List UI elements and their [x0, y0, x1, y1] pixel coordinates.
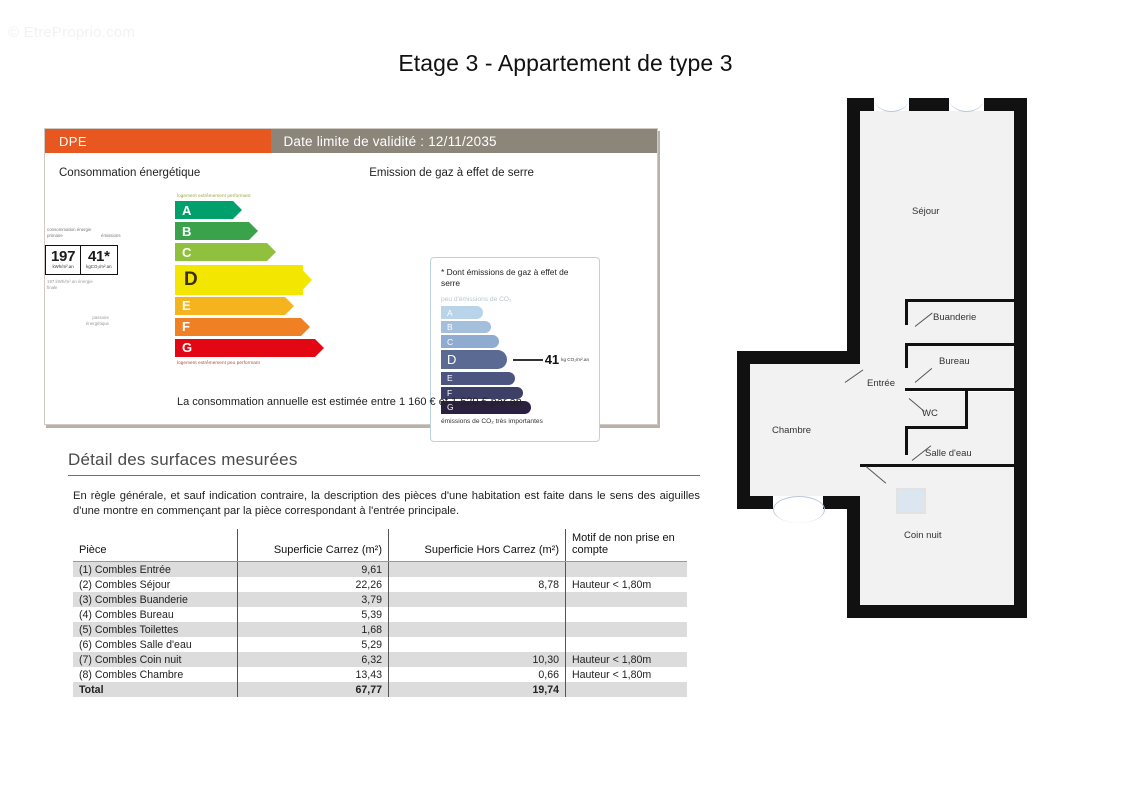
- table-row: (8) Combles Chambre 13,43 0,66 Hauteur <…: [73, 667, 687, 682]
- dpe-section-headings: Consommation énergétique Emission de gaz…: [45, 167, 657, 179]
- cell-carrez: 5,39: [238, 607, 389, 622]
- passoire-note: passoire énergétique: [69, 315, 109, 327]
- cell-hors-carrez: [389, 562, 566, 578]
- room-label-sejour: Séjour: [912, 206, 939, 217]
- ges-row-c: C: [441, 335, 589, 348]
- cell-total-label: Total: [73, 682, 238, 697]
- label-consommation: consommation énergie primaire: [47, 227, 95, 239]
- scale-letter-b: B: [175, 222, 249, 240]
- surfaces-table: Pièce Superficie Carrez (m²) Superficie …: [73, 529, 687, 697]
- cell-piece: (2) Combles Séjour: [73, 577, 238, 592]
- surfaces-heading: Détail des surfaces mesurées: [68, 450, 700, 476]
- cell-piece: (7) Combles Coin nuit: [73, 652, 238, 667]
- cell-motif: [566, 622, 688, 637]
- table-row: (2) Combles Séjour 22,26 8,78 Hauteur < …: [73, 577, 687, 592]
- ges-letter-c: C: [441, 335, 499, 348]
- ges-letter-e: E: [441, 372, 515, 385]
- cell-motif: [566, 562, 688, 578]
- ges-unit: kgCO₂/m².an: [86, 264, 111, 270]
- cell-carrez: 5,29: [238, 637, 389, 652]
- scale-row-f: F: [175, 318, 315, 338]
- table-row: (7) Combles Coin nuit 6,32 10,30 Hauteur…: [73, 652, 687, 667]
- partition-sejour-bottom: [905, 299, 1014, 302]
- table-total-row: Total 67,77 19,74: [73, 682, 687, 697]
- cell-motif: Hauteur < 1,80m: [566, 667, 688, 682]
- room-bureau-fill: [905, 346, 1014, 390]
- column-header-piece: Pièce: [73, 529, 238, 562]
- scale-letter-f: F: [175, 318, 301, 336]
- partition-buanderie-bottom: [905, 343, 1014, 346]
- energy-unit: kWh/m².an: [52, 264, 73, 270]
- dpe-validity-date: Date limite de validité : 12/11/2035: [271, 129, 657, 153]
- window-arc-chambre: [773, 496, 825, 523]
- wall-left-upper: [847, 98, 860, 364]
- energy-value-cell: 197 kWh/m².an: [46, 246, 80, 274]
- energy-value: 197: [51, 250, 75, 264]
- wall-chambre-left: [737, 351, 750, 509]
- skylight-icon: [896, 488, 926, 514]
- ges-letter-d: D: [441, 350, 507, 369]
- scale-row-g: G: [175, 339, 315, 359]
- cell-piece: (6) Combles Salle d'eau: [73, 637, 238, 652]
- dpe-panel: DPE Date limite de validité : 12/11/2035…: [44, 128, 658, 425]
- table-row: (3) Combles Buanderie 3,79: [73, 592, 687, 607]
- column-header-motif: Motif de non prise en compte: [566, 529, 688, 562]
- ges-heading: Emission de gaz à effet de serre: [363, 167, 657, 179]
- scale-caption-top: logement extrêmement performant: [177, 193, 315, 201]
- surfaces-section: Détail des surfaces mesurées En règle gé…: [68, 450, 700, 697]
- cell-hors-carrez: 0,66: [389, 667, 566, 682]
- partition-salledeau-left: [905, 429, 908, 455]
- ges-value: 41: [545, 352, 559, 367]
- wall-right: [1014, 98, 1027, 618]
- column-header-carrez: Superficie Carrez (m²): [238, 529, 389, 562]
- label-emissions: émissions: [101, 233, 121, 239]
- partition-salledeau-bottom: [860, 464, 1014, 467]
- cell-carrez: 22,26: [238, 577, 389, 592]
- ges-value-unit: kg CO₂/m².an: [561, 357, 589, 362]
- surfaces-intro: En règle générale, et sauf indication co…: [73, 489, 700, 519]
- partition-bureau-left: [905, 346, 908, 368]
- ges-value-star: 41*: [88, 250, 110, 264]
- table-row: (1) Combles Entrée 9,61: [73, 562, 687, 578]
- cell-motif: [566, 592, 688, 607]
- cell-piece: (8) Combles Chambre: [73, 667, 238, 682]
- room-label-bureau: Bureau: [939, 356, 970, 367]
- cell-piece: (5) Combles Toilettes: [73, 622, 238, 637]
- table-header-row: Pièce Superficie Carrez (m²) Superficie …: [73, 529, 687, 562]
- room-label-entree: Entrée: [867, 378, 895, 389]
- scale-row-e: E: [175, 297, 315, 317]
- window-arc-sejour-left: [874, 85, 909, 112]
- scale-letter-a: A: [175, 201, 233, 219]
- column-header-hors-carrez: Superficie Hors Carrez (m²): [389, 529, 566, 562]
- partition-wc-bottom: [905, 426, 968, 429]
- scale-letter-c: C: [175, 243, 267, 261]
- ges-letter-a: A: [441, 306, 483, 319]
- ges-letter-b: B: [441, 321, 491, 334]
- cell-hors-carrez: 8,78: [389, 577, 566, 592]
- cell-motif: Hauteur < 1,80m: [566, 652, 688, 667]
- table-row: (4) Combles Bureau 5,39: [73, 607, 687, 622]
- energy-scale: logement extrêmement performant A B C D …: [175, 193, 315, 368]
- wall-bottom: [847, 605, 1027, 618]
- cell-hors-carrez: [389, 622, 566, 637]
- cell-carrez: 13,43: [238, 667, 389, 682]
- scale-row-b: B: [175, 222, 315, 242]
- cell-total-hors-carrez: 19,74: [389, 682, 566, 697]
- scale-row-a: A: [175, 201, 315, 221]
- wall-chambre-top: [737, 351, 860, 364]
- cell-hors-carrez: 10,30: [389, 652, 566, 667]
- dpe-annual-cost-estimate: La consommation annuelle est estimée ent…: [45, 396, 657, 408]
- room-label-chambre: Chambre: [772, 425, 811, 436]
- watermark: © EtreProprio.com: [8, 24, 135, 41]
- partition-entree-right: [905, 299, 908, 313]
- room-label-wc: WC: [922, 408, 938, 419]
- dpe-value-box: 197 kWh/m².an 41* kgCO₂/m².an: [45, 245, 118, 275]
- room-label-salledeau: Salle d'eau: [925, 448, 972, 459]
- cell-motif: Hauteur < 1,80m: [566, 577, 688, 592]
- table-row: (5) Combles Toilettes 1,68: [73, 622, 687, 637]
- room-label-coinnuit: Coin nuit: [904, 530, 942, 541]
- scale-caption-bottom: logement extrêmement peu performant: [177, 360, 315, 368]
- cell-total-carrez: 67,77: [238, 682, 389, 697]
- energy-final-note: 197 kWh/m².an énergie finale: [47, 279, 95, 291]
- cell-hors-carrez: [389, 637, 566, 652]
- cell-carrez: 6,32: [238, 652, 389, 667]
- ges-panel: * Dont émissions de gaz à effet de serre…: [430, 257, 600, 442]
- scale-letter-e: E: [175, 297, 285, 315]
- cell-piece: (3) Combles Buanderie: [73, 592, 238, 607]
- cell-total-motif: [566, 682, 688, 697]
- cell-motif: [566, 637, 688, 652]
- partition-bureau-bottom: [905, 388, 1014, 391]
- scale-row-d-current: D: [175, 265, 315, 295]
- scale-letter-d: D: [175, 265, 303, 295]
- ges-row-e: E: [441, 372, 589, 385]
- cell-piece: (4) Combles Bureau: [73, 607, 238, 622]
- cell-hors-carrez: [389, 592, 566, 607]
- scale-row-c: C: [175, 243, 315, 263]
- ges-value-cell: 41* kgCO₂/m².an: [80, 246, 116, 274]
- partition-wc-right: [965, 388, 968, 428]
- cell-carrez: 1,68: [238, 622, 389, 637]
- consumption-heading: Consommation énergétique: [45, 167, 363, 179]
- room-label-buanderie: Buanderie: [933, 312, 976, 323]
- cell-hors-carrez: [389, 607, 566, 622]
- cell-carrez: 3,79: [238, 592, 389, 607]
- ges-panel-footer: émissions de CO₂ très importantes: [441, 418, 589, 427]
- dpe-header-bars: DPE Date limite de validité : 12/11/2035: [45, 129, 657, 153]
- ges-leader-line: [513, 359, 543, 361]
- ges-panel-title: * Dont émissions de gaz à effet de serre: [441, 267, 589, 289]
- cell-carrez: 9,61: [238, 562, 389, 578]
- ges-panel-subtitle: peu d'émissions de CO₂: [441, 296, 589, 303]
- ges-row-d-current: D 41 kg CO₂/m².an: [441, 350, 589, 370]
- surfaces-table-body: (1) Combles Entrée 9,61 (2) Combles Séjo…: [73, 562, 687, 698]
- dpe-scales: logement extrêmement performant A B C D …: [45, 187, 657, 367]
- ges-row-a: A: [441, 306, 589, 319]
- scale-letter-g: G: [175, 339, 315, 357]
- dpe-tag: DPE: [45, 129, 271, 153]
- cell-motif: [566, 607, 688, 622]
- page-title: Etage 3 - Appartement de type 3: [0, 50, 1131, 77]
- ges-row-b: B: [441, 321, 589, 334]
- window-arc-sejour-right: [949, 85, 984, 112]
- cell-piece: (1) Combles Entrée: [73, 562, 238, 578]
- table-row: (6) Combles Salle d'eau 5,29: [73, 637, 687, 652]
- floor-plan: Séjour Buanderie Bureau Entrée WC Salle …: [737, 98, 1027, 618]
